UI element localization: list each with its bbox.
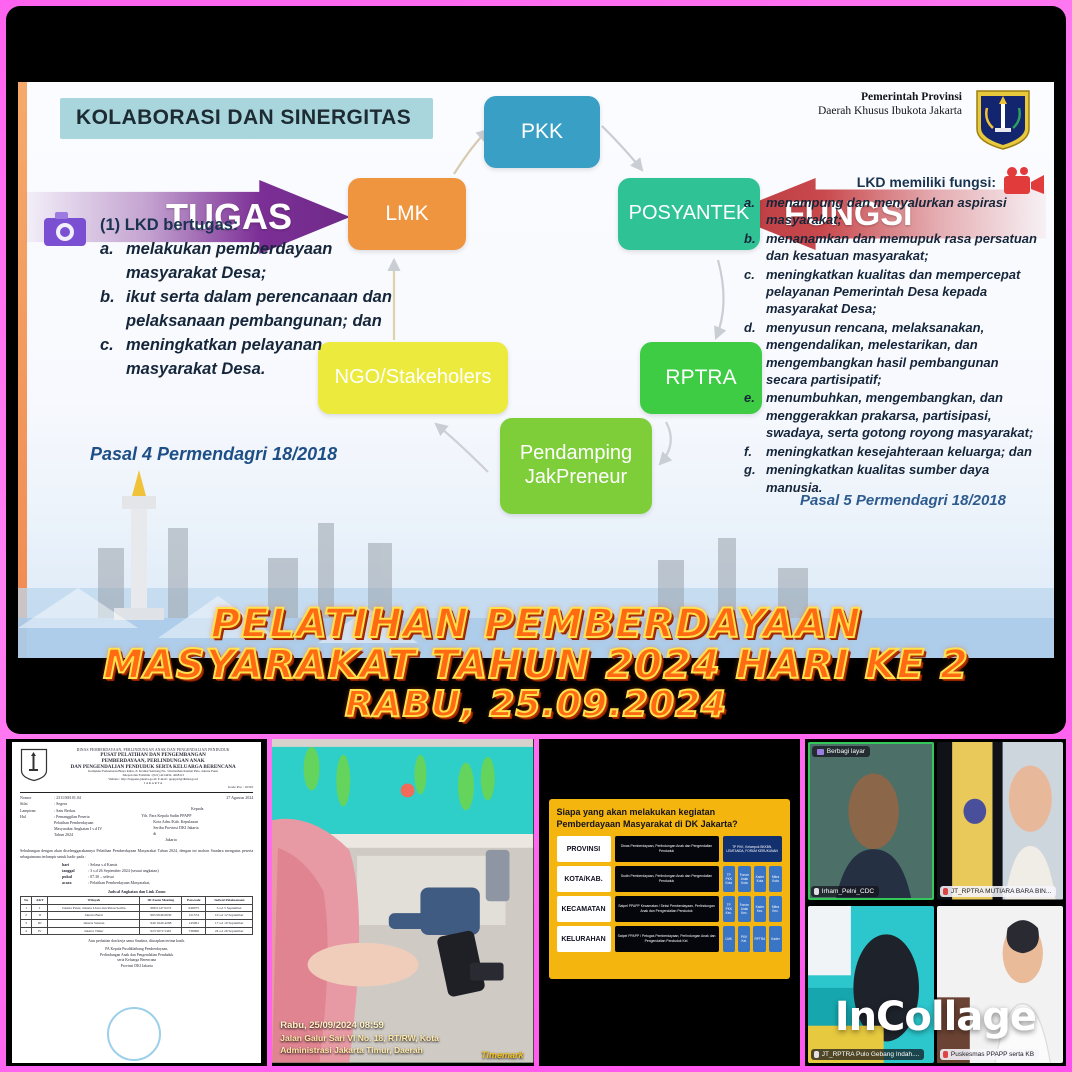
top-slide-panel: KOLABORASI DAN SINERGITAS Pemerintah Pro… [6, 6, 1066, 734]
overlay-title-line-3: RABU, 25.09.2024 [6, 686, 1066, 723]
microphone-icon [814, 888, 819, 895]
table-header-cell: Wilayah [48, 897, 140, 905]
tugas-item-marker: c. [100, 334, 126, 382]
table-cell: 145061 [182, 920, 206, 928]
slide-left-rail [18, 82, 27, 658]
fungsi-item-marker: e. [744, 389, 766, 441]
participant-label: Irham_Pelni_CDC [822, 888, 874, 895]
govt-line-1: Pemerintah Provinsi [818, 90, 962, 104]
tugas-item-text: meningkatkan pelayanan masyarakat Desa. [126, 334, 400, 382]
section-title: KOLABORASI DAN SINERGITAS [76, 106, 411, 129]
fungsi-item-marker: f. [744, 443, 766, 460]
video-feed-2 [937, 742, 1063, 900]
participant-name-1: Irham_Pelni_CDC [811, 886, 879, 897]
node-pendamping[interactable]: Pendamping JakPreneur [500, 418, 652, 514]
node-posyantek[interactable]: POSYANTEK [618, 178, 760, 250]
fungsi-item: d.menyusun rencana, melaksanakan, mengen… [744, 319, 1040, 389]
participant-name-2: JT_RPTRA MUTIARA BARA BIN... [940, 886, 1056, 897]
doc-detail-value: : 3 s.d 26 September 2024 (sesuai angkat… [88, 868, 159, 873]
doc-date: 27 Agustus 2024 [141, 795, 253, 801]
share-screen-icon [817, 749, 824, 755]
table-row: 2 II Jakarta Barat 965 0046 0630 121574 … [21, 912, 253, 920]
fungsi-item-text: menyusun rencana, melaksanakan, mengenda… [766, 319, 1040, 389]
yellow-slide-question: Siapa yang akan melakukan kegiatan Pembe… [557, 807, 782, 830]
doc-detail-value: : Pelatihan Pemberdayaan Masyarakat, [88, 880, 150, 885]
yellow-row-blue: Mitra Kec. [769, 896, 782, 922]
fungsi-item-text: menampung dan menyalurkan aspirasi masya… [766, 194, 1040, 229]
video-feed-1 [808, 742, 934, 900]
yellow-row-blue: PKK Kel. [738, 926, 750, 952]
overlay-title-line-1: PELATIHAN PEMBERDAYAAN [6, 604, 1066, 645]
table-cell: Jakarta Pusat, Jakarta Utara dan Pulau S… [48, 904, 140, 912]
jakarta-crest-icon [974, 88, 1032, 150]
collage-cell-yellow-slide[interactable]: Siapa yang akan melakukan kegiatan Pembe… [539, 739, 800, 1066]
doc-closing: Atas perhatian dan kerja sama Saudara, d… [20, 939, 253, 945]
fungsi-text-block: a.menampung dan menyalurkan aspirasi mas… [744, 194, 1040, 497]
yellow-row-blue: LMK [723, 926, 735, 952]
table-cell: 923 5072 5461 [140, 927, 182, 935]
letterhead: DINAS PEMBERDAYAAN, PERLINDUNGAN ANAK DA… [20, 748, 253, 785]
table-cell: 3 s.d 5 September [206, 904, 253, 912]
table-cell: IV [32, 927, 48, 935]
video-tile-2[interactable]: JT_RPTRA MUTIARA BARA BIN... [937, 742, 1063, 900]
photo-timestamp: Rabu, 25/09/2024 08:59 [280, 1020, 439, 1033]
tugas-item-marker: b. [100, 286, 126, 334]
doc-detail-value: : 07.30 – selesai [88, 874, 114, 879]
photo-collage-grid: DINAS PEMBERDAYAAN, PERLINDUNGAN ANAK DA… [6, 739, 1066, 1066]
fungsi-item-text: menanamkan dan memupuk rasa persatuan da… [766, 230, 1040, 265]
tugas-item: a.melakukan pemberdayaan masyarakat Desa… [100, 238, 400, 286]
schedule-table: No AKT Wilayah ID Zoom Meeting Passcode … [20, 896, 253, 935]
fungsi-item: g.meningkatkan kualitas sumber daya manu… [744, 461, 1040, 496]
table-header-row: No AKT Wilayah ID Zoom Meeting Passcode … [21, 897, 253, 905]
doc-sign-line-4: Provinsi DKI Jakarta [20, 964, 253, 970]
yellow-row-dark: Dinas Pemberdayaan, Perlindungan Anak da… [615, 836, 719, 862]
govt-line-2: Daerah Khusus Ibukota Jakarta [818, 104, 962, 118]
letterhead-divider [20, 792, 253, 793]
photo-location-line-1: Jalan Galur Sari VI No. 18, RT/RW, Kota [280, 1033, 439, 1044]
yellow-row-label: PROVINSI [557, 836, 611, 862]
yellow-row-provinsi: PROVINSI Dinas Pemberdayaan, Perlindunga… [557, 836, 782, 862]
fungsi-item-marker: g. [744, 461, 766, 496]
doc-meta: Nomor: 2311/SM.01.04 Sifat: Segera Lampi… [20, 795, 253, 843]
fungsi-item-marker: c. [744, 266, 766, 318]
tugas-item-marker: a. [100, 238, 126, 286]
yellow-row-kelurahan: KELURAHAN Satpel PPAPP / Petugas Pemberd… [557, 926, 782, 952]
participant-label: Puskesmas PPAPP serta KB [951, 1051, 1034, 1058]
doc-org-line-2d: J A K A R T A [53, 782, 253, 786]
table-cell: 646075 [182, 904, 206, 912]
monas-monument [114, 470, 164, 620]
yellow-row-label: KOTA/KAB. [557, 866, 611, 892]
yellow-row-blue: Kader Kec. [754, 896, 767, 922]
fungsi-item: f.meningkatkan kesejahteraan keluarga; d… [744, 443, 1040, 460]
yellow-row-blue: TP PKK, Kelompok BKKBN, LEMTANDA, FORUM … [723, 836, 782, 862]
collage-cell-photo[interactable]: Rabu, 25/09/2024 08:59 Jalan Galur Sari … [272, 739, 533, 1066]
table-cell: I [32, 904, 48, 912]
official-stamp [107, 1007, 161, 1061]
table-cell: 965 0046 0630 [140, 912, 182, 920]
collage-canvas: KOLABORASI DAN SINERGITAS Pemerintah Pro… [0, 0, 1072, 1072]
overlay-title-line-2: MASYARAKAT TAHUN 2024 HARI KE 2 [6, 645, 1066, 686]
doc-body-paragraph: Sehubungan dengan akan diselenggarakanny… [20, 848, 253, 861]
table-header-cell: Jadwal Pelaksanaan [206, 897, 253, 905]
fungsi-heading: LKD memiliki fungsi: [857, 174, 996, 190]
classroom-photo [272, 739, 533, 1063]
collage-cell-document[interactable]: DINAS PEMBERDAYAAN, PERLINDUNGAN ANAK DA… [6, 739, 267, 1066]
table-row: 1 I Jakarta Pusat, Jakarta Utara dan Pul… [21, 904, 253, 912]
table-cell: 2 [21, 912, 32, 920]
government-header: Pemerintah Provinsi Daerah Khusus Ibukot… [818, 90, 962, 119]
yellow-question-line-2: Pemberdayaan Masyarakat di DK Jakarta? [557, 819, 738, 829]
table-cell: II [32, 912, 48, 920]
yellow-row-blue: Forum Anak Kec. [738, 896, 751, 922]
tugas-heading: (1) LKD bertugas: [100, 214, 400, 238]
doc-detail-value: : Selasa s.d Kamis [88, 862, 117, 867]
fungsi-item-text: menumbuhkan, mengembangkan, dan menggera… [766, 389, 1040, 441]
participant-label: JT_RPTRA MUTIARA BARA BIN... [951, 888, 1051, 895]
table-cell: 3 [21, 920, 32, 928]
table-cell: 736966 [182, 927, 206, 935]
table-row: 3 III Jakarta Selatan 940 1640 4298 1450… [21, 920, 253, 928]
table-cell: 986 0147 0272 [140, 904, 182, 912]
video-tile-1[interactable]: Berbagi layar Irham_Pelni_CDC [808, 742, 934, 900]
yellow-slide-card: Siapa yang akan melakukan kegiatan Pembe… [549, 799, 790, 979]
fungsi-item-text: meningkatkan kualitas dan mempercepat pe… [766, 266, 1040, 318]
table-cell: 940 1640 4298 [140, 920, 182, 928]
yellow-row-blue: Kader Kota [754, 866, 767, 892]
yellow-row-kota: KOTA/KAB. Sudin Pemberdayaan, Perlindung… [557, 866, 782, 892]
participant-name-3: JT_RPTRA Pulo Gebang Indah.... [811, 1049, 925, 1060]
yellow-row-label: KELURAHAN [557, 926, 611, 952]
share-badge-label: Berbagi layar [827, 748, 865, 755]
table-cell: 17 s.d 19 September [206, 920, 253, 928]
table-cell: Jakarta Timur [48, 927, 140, 935]
tugas-text-block: (1) LKD bertugas: a.melakukan pemberdaya… [100, 214, 400, 381]
fungsi-item-marker: b. [744, 230, 766, 265]
fungsi-item-text: meningkatkan kesejahteraan keluarga; dan [766, 443, 1032, 460]
timemark-watermark: Timemark [481, 1050, 523, 1060]
yellow-row-blue: Kader [769, 926, 781, 952]
yellow-row-dark: Satpel PPAPP Kecamatan / Seksi Pemberday… [615, 896, 719, 922]
table-cell: 4 [21, 927, 32, 935]
fungsi-item: b.menanamkan dan memupuk rasa persatuan … [744, 230, 1040, 265]
photo-location-line-2: Administrasi Jakarta Timur, Daerah [280, 1045, 439, 1056]
table-cell: Jakarta Selatan [48, 920, 140, 928]
microphone-muted-icon [943, 1051, 948, 1058]
yellow-question-line-1: Siapa yang akan melakukan kegiatan [557, 807, 716, 817]
fungsi-item-marker: a. [744, 194, 766, 229]
jakarta-crest-small-icon [20, 748, 48, 782]
doc-to-line-5: Jakarta [141, 837, 253, 843]
yellow-row-blue: Mitra Kota [769, 866, 782, 892]
yellow-row-blue: TP PKK Kec. [723, 896, 736, 922]
table-row: 4 IV Jakarta Timur 923 5072 5461 736966 … [21, 927, 253, 935]
yellow-row-dark: Sudin Pemberdayaan, Perlindungan Anak da… [615, 866, 719, 892]
table-header-cell: Passcode [182, 897, 206, 905]
table-header-cell: ID Zoom Meeting [140, 897, 182, 905]
collage-cell-video-call[interactable]: Berbagi layar Irham_Pelni_CDC [805, 739, 1066, 1066]
yellow-row-kecamatan: KECAMATAN Satpel PPAPP Kecamatan / Seksi… [557, 896, 782, 922]
doc-detail-key: acara [62, 880, 88, 886]
table-cell: Jakarta Barat [48, 912, 140, 920]
fungsi-citation: Pasal 5 Permendagri 18/2018 [800, 492, 1006, 509]
section-title-box: KOLABORASI DAN SINERGITAS [60, 98, 433, 139]
incollage-watermark: InCollage [805, 994, 1066, 1040]
table-cell: III [32, 920, 48, 928]
participant-label: JT_RPTRA Pulo Gebang Indah.... [822, 1051, 920, 1058]
camera-icon [42, 210, 88, 248]
fungsi-item: e.menumbuhkan, mengembangkan, dan mengge… [744, 389, 1040, 441]
official-letter: DINAS PEMBERDAYAAN, PERLINDUNGAN ANAK DA… [12, 742, 261, 1063]
table-cell: 1 [21, 904, 32, 912]
fungsi-item-text: meningkatkan kualitas sumber daya manusi… [766, 461, 1040, 496]
doc-detail: acara: Pelatihan Pemberdayaan Masyarakat… [62, 880, 253, 886]
tugas-item: c.meningkatkan pelayanan masyarakat Desa… [100, 334, 400, 382]
doc-kodepos: Kode Pos : 10310 [20, 785, 253, 789]
photo-timestamp-overlay: Rabu, 25/09/2024 08:59 Jalan Galur Sari … [280, 1020, 439, 1056]
fungsi-item-marker: d. [744, 319, 766, 389]
table-header-cell: AKT [32, 897, 48, 905]
tugas-item-text: melakukan pemberdayaan masyarakat Desa; [126, 238, 400, 286]
tugas-item-text: ikut serta dalam perencanaan dan pelaksa… [126, 286, 400, 334]
yellow-row-label: KECAMATAN [557, 896, 611, 922]
tugas-citation: Pasal 4 Permendagri 18/2018 [90, 444, 337, 465]
participant-name-4: Puskesmas PPAPP serta KB [940, 1049, 1039, 1060]
fungsi-item: c.meningkatkan kualitas dan mempercepat … [744, 266, 1040, 318]
presentation-slide: KOLABORASI DAN SINERGITAS Pemerintah Pro… [18, 82, 1054, 658]
yellow-row-blue: RPTRA [753, 926, 766, 952]
tugas-item: b.ikut serta dalam perencanaan dan pelak… [100, 286, 400, 334]
microphone-muted-icon [814, 1051, 819, 1058]
overlay-title: PELATIHAN PEMBERDAYAAN MASYARAKAT TAHUN … [6, 604, 1066, 723]
table-cell: 121574 [182, 912, 206, 920]
microphone-muted-icon [943, 888, 948, 895]
doc-table-title: Jadwal Angkatan dan Link Zoom [20, 889, 253, 894]
table-cell: 24 s.d 26 September [206, 927, 253, 935]
table-cell: 10 s.d 12 September [206, 912, 253, 920]
yellow-row-blue: Forum Anak Kota [738, 866, 751, 892]
doc-hal-cont-3: Tahun 2024 [20, 832, 141, 838]
table-header-cell: No [21, 897, 32, 905]
screen-share-badge: Berbagi layar [812, 746, 870, 757]
doc-field-key: Hal [20, 814, 54, 820]
fungsi-item: a.menampung dan menyalurkan aspirasi mas… [744, 194, 1040, 229]
yellow-row-dark: Satpel PPAPP / Petugas Pemberdayaan, Per… [615, 926, 719, 952]
node-pkk[interactable]: PKK [484, 96, 600, 168]
yellow-row-blue: TP PKK Kota [723, 866, 736, 892]
